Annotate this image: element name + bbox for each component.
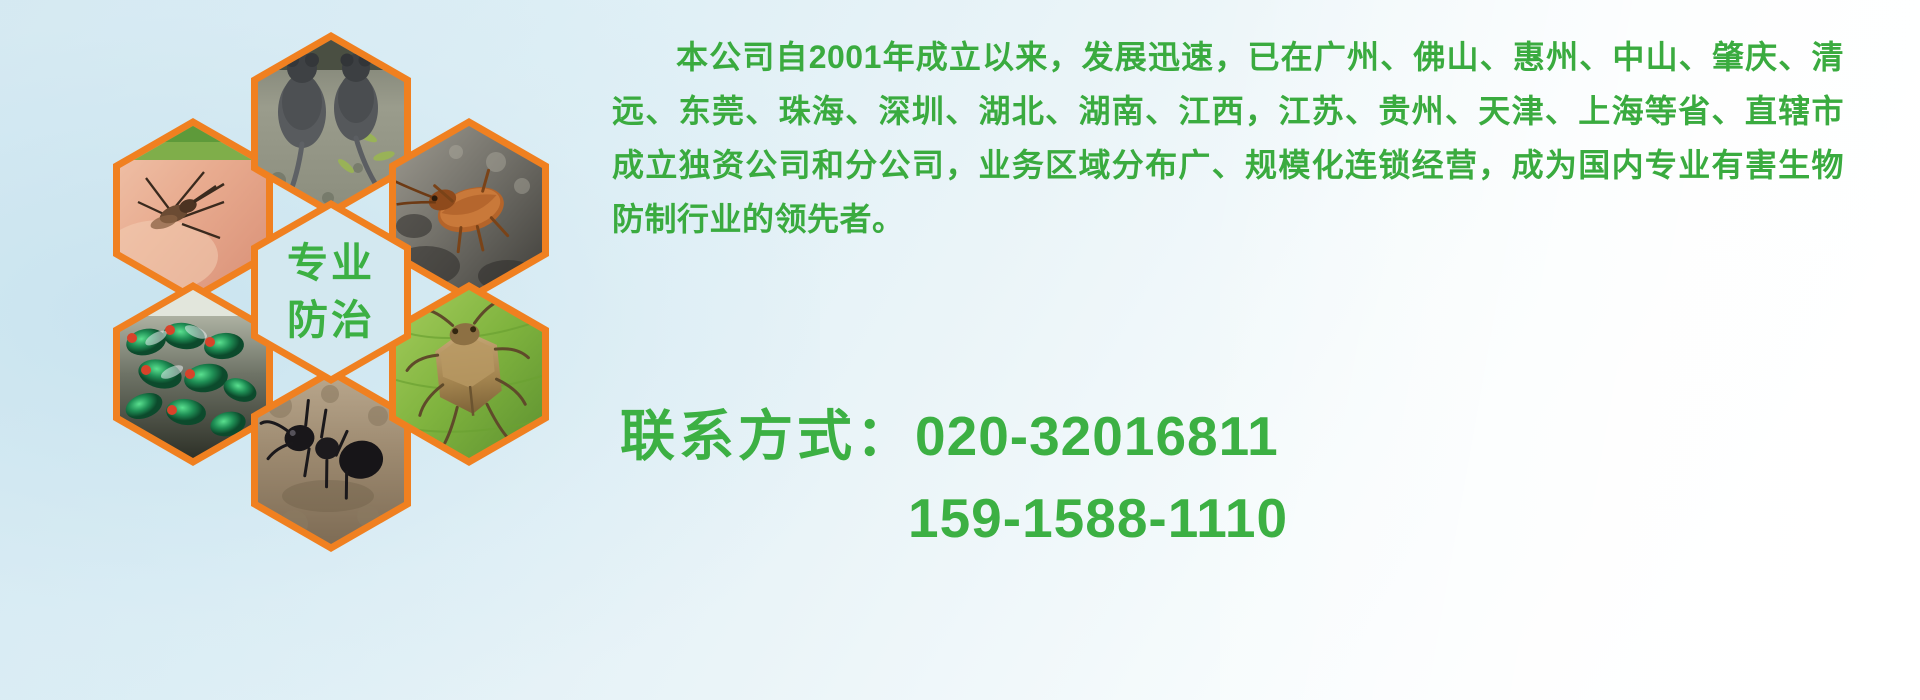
intro-paragraph: 本公司自2001年成立以来，发展迅速，已在广州、佛山、惠州、中山、肇庆、清远、东… [612,30,1844,246]
promotional-banner: 专业 防治 本公司自2001年成立以来，发展迅速，已在广州、佛山、惠州、中山、肇… [0,0,1920,700]
contact-primary-line: 联系方式：020-32016811 [620,395,1288,477]
hex-cell-ant[interactable] [251,368,411,552]
contact-phone-secondary[interactable]: 159-1588-1110 [908,487,1288,549]
ant-photo-icon [258,376,404,544]
center-label-line-1: 专业 [287,235,375,292]
cockroach-photo-icon [396,126,542,294]
contact-label: 联系方式： [620,405,915,467]
fly-photo-icon [120,290,266,458]
stinkbug-photo-icon [396,290,542,458]
honeycomb-cluster: 专业 防治 [95,10,595,570]
contact-secondary-line: 159-1588-1110 [620,477,1288,559]
hex-cell-mosquito[interactable] [113,118,273,302]
mosquito-photo-icon [120,126,266,294]
contact-phone-primary[interactable]: 020-32016811 [915,405,1279,467]
contact-block: 联系方式：020-32016811 159-1588-1110 [620,395,1288,559]
intro-content: 本公司自2001年成立以来，发展迅速，已在广州、佛山、惠州、中山、肇庆、清远、东… [612,30,1872,246]
hex-cell-rat[interactable] [251,32,411,216]
hex-cell-fly[interactable] [113,282,273,466]
rat-photo-icon [258,40,404,208]
center-label-line-2: 防治 [287,292,375,349]
hex-cell-stinkbug[interactable] [389,282,549,466]
hex-cell-cockroach[interactable] [389,118,549,302]
center-label-inner: 专业 防治 [258,208,404,376]
hex-cell-center-label: 专业 防治 [251,200,411,384]
